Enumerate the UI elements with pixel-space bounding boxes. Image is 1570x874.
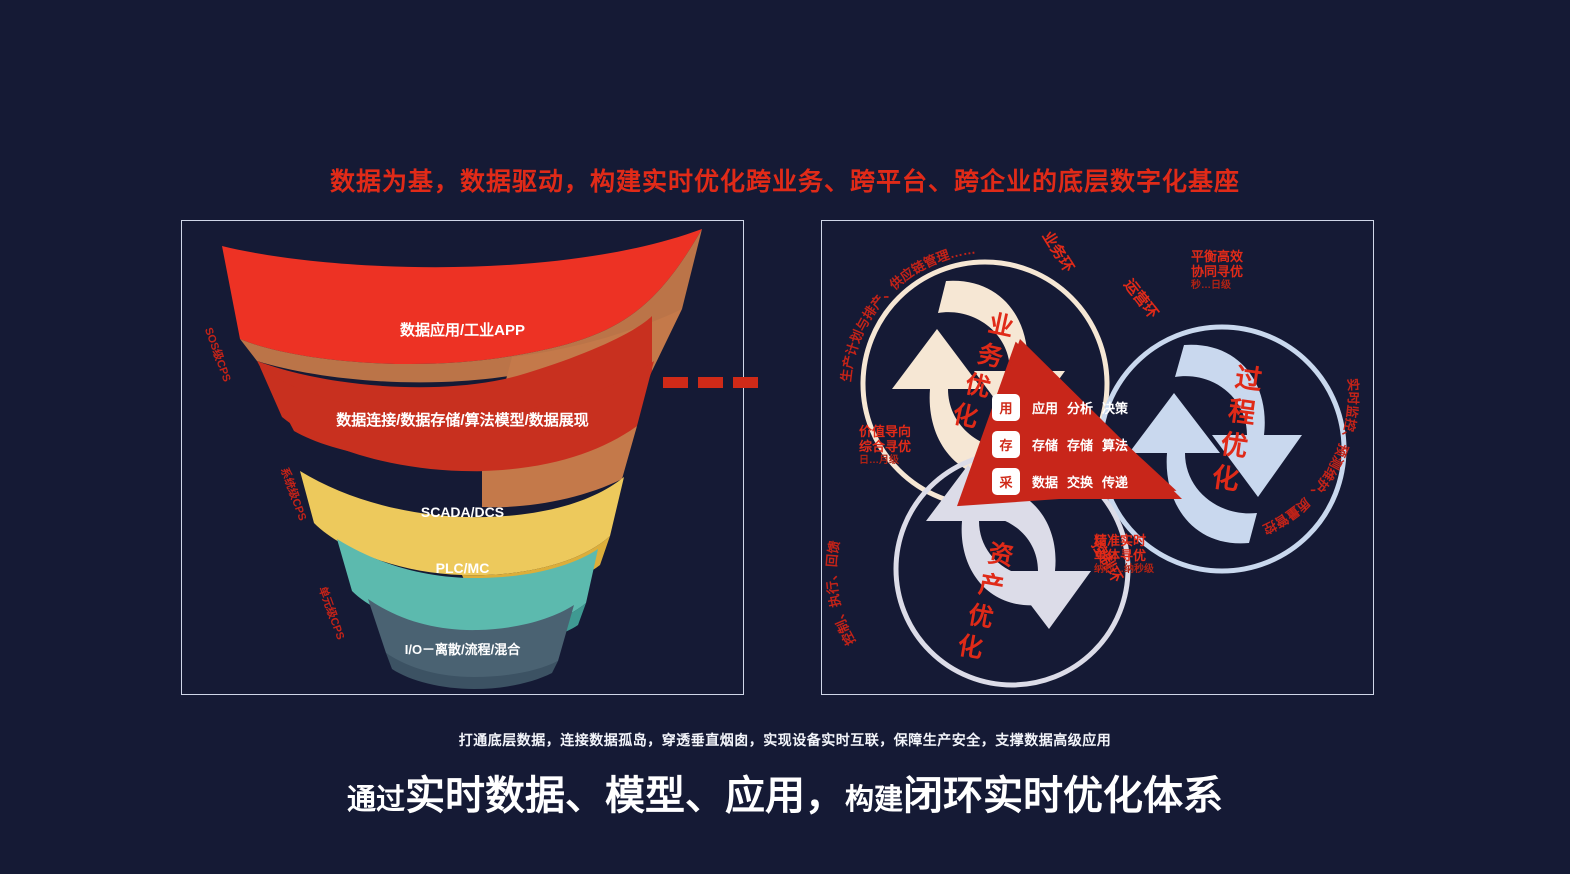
funnel-panel: 数据应用/工业APP 数据连接/数据存储/算法模型/数据展现 SCADA/DCS… (181, 220, 744, 695)
triangle-row-key: 采 (992, 468, 1020, 495)
dash-segment (663, 377, 688, 388)
svg-text:务: 务 (975, 340, 1005, 373)
headline-segment-4: 闭环实时优化体系 (903, 774, 1223, 818)
annotation-line-3: 秒…日级 (1191, 280, 1243, 292)
svg-text:程: 程 (1226, 396, 1257, 429)
dash-segment (733, 377, 758, 388)
triangle-row-values: 数据 交换 传递 (1032, 472, 1128, 491)
triangle-cell: 决策 (1102, 398, 1128, 417)
headline-segment-3: 构建 (845, 784, 903, 816)
svg-text:优: 优 (963, 370, 993, 403)
triangle-cell: 存储 (1032, 435, 1058, 454)
dashed-connector (663, 377, 758, 388)
triangle-cell: 算法 (1102, 435, 1128, 454)
triangle-cell: 分析 (1067, 398, 1093, 417)
triangle-row: 存 存储 存储 算法 (992, 428, 1128, 460)
annotation-bottom-left: 价值导向 综合寻优 日…月级 (859, 424, 911, 466)
svg-text:产: 产 (976, 570, 1005, 602)
triangle-row-key: 存 (992, 431, 1020, 458)
svg-text:资: 资 (986, 539, 1015, 571)
triangle-row-key: 用 (992, 394, 1020, 421)
svg-text:过: 过 (1233, 362, 1264, 395)
svg-text:化: 化 (950, 400, 980, 433)
funnel-diagram (182, 221, 743, 694)
loop-diagram-panel: 生产计划与排产、供应链管理…… 实时监控、预测维护、质量管控…… 控制、执行、回… (821, 220, 1374, 695)
triangle-cell: 数据 (1032, 472, 1058, 491)
annotation-bottom-right: 精准实时 单体寻优 纳秒…纳秒级 (1094, 533, 1154, 575)
footer-subtitle: 打通底层数据，连接数据孤岛，穿透垂直烟囱，实现设备实时互联，保障生产安全，支撑数… (0, 730, 1570, 750)
annotation-line-3: 日…月级 (859, 455, 911, 467)
triangle-cell: 应用 (1032, 398, 1058, 417)
footer-headline: 通过实时数据、模型、应用，构建闭环实时优化体系 (0, 763, 1570, 821)
annotation-line-1: 平衡高效 (1191, 249, 1243, 264)
annotation-line-2: 单体寻优 (1094, 548, 1154, 563)
svg-text:优: 优 (966, 601, 995, 633)
dash-segment (698, 377, 723, 388)
triangle-capability-table: 用 应用 分析 决策 存 存储 存储 算法 采 数据 交换 (992, 391, 1128, 502)
annotation-top-right: 平衡高效 协同寻优 秒…日级 (1191, 249, 1243, 291)
arc-text-asset: 控制、执行、回馈 (824, 539, 858, 647)
triangle-row: 用 应用 分析 决策 (992, 391, 1128, 423)
slide-canvas: 数据为基，数据驱动，构建实时优化跨业务、跨平台、跨企业的底层数字化基座 数据应用… (0, 0, 1570, 874)
svg-text:优: 优 (1219, 429, 1250, 462)
annotation-line-2: 协同寻优 (1191, 264, 1243, 279)
page-title: 数据为基，数据驱动，构建实时优化跨业务、跨平台、跨企业的底层数字化基座 (0, 162, 1570, 198)
triangle-cell: 交换 (1067, 472, 1093, 491)
headline-segment-2: 实时数据、模型、应用， (405, 774, 845, 818)
annotation-line-1: 价值导向 (859, 424, 911, 439)
svg-text:化: 化 (956, 631, 985, 663)
annotation-line-1: 精准实时 (1094, 533, 1154, 548)
annotation-line-2: 综合寻优 (859, 439, 911, 454)
annotation-line-3: 纳秒…纳秒级 (1094, 564, 1154, 576)
svg-text:化: 化 (1210, 462, 1241, 495)
triangle-cell: 存储 (1067, 435, 1093, 454)
headline-segment-1: 通过 (347, 784, 405, 816)
triangle-cell: 传递 (1102, 472, 1128, 491)
triangle-row-values: 存储 存储 算法 (1032, 435, 1128, 454)
triangle-row-values: 应用 分析 决策 (1032, 398, 1128, 417)
triangle-row: 采 数据 交换 传递 (992, 465, 1128, 497)
